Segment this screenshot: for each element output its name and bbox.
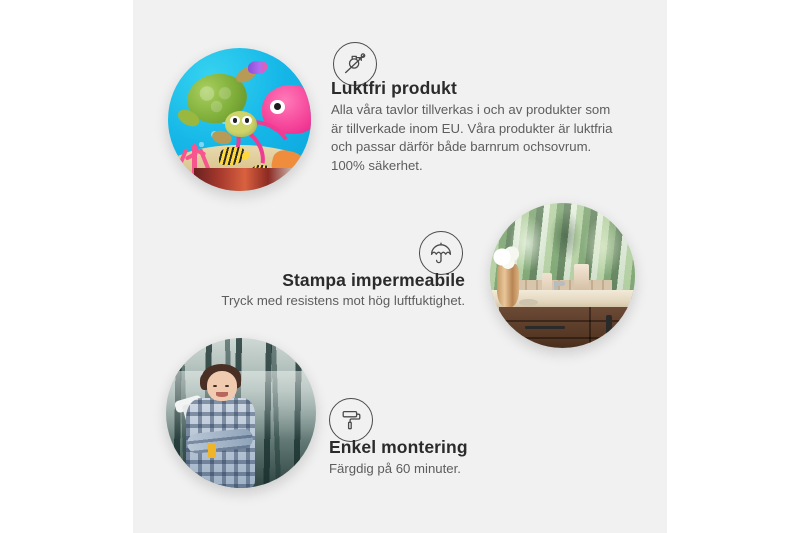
woman-paint-roller-circle-photo (166, 338, 316, 488)
woman-smile (216, 392, 228, 397)
turtle-eye (230, 116, 239, 126)
soap-dish-object (519, 299, 538, 306)
bathroom-interior-circle-photo (490, 203, 635, 348)
ocean-cartoon-circle-photo (168, 48, 311, 191)
yellow-fish-illustration (219, 147, 243, 166)
screenshot-root: Luktfri produkt Alla våra tavlor tillver… (0, 0, 800, 533)
bathroom-scene (490, 203, 635, 348)
door-handle (606, 315, 612, 340)
octopus-eye (270, 100, 285, 115)
cabinet-seam (499, 337, 635, 339)
cabinet-seam (589, 307, 591, 348)
paint-roller-icon (329, 398, 373, 442)
woman-eye (213, 385, 218, 387)
ocean-scene (168, 48, 311, 191)
drawer-handle (525, 326, 566, 328)
feature-title-waterproof: Stampa impermeabile (282, 270, 465, 291)
feature-panel: Luktfri produkt Alla våra tavlor tillver… (133, 0, 667, 533)
vase-object (497, 264, 519, 308)
feature-body-waterproof: Tryck med resistens mot hög luftfuktighe… (165, 292, 465, 311)
woman-face (207, 371, 237, 401)
feature-body-mounting: Färgdig på 60 minuter. (329, 460, 589, 479)
turtle-eye (242, 116, 251, 126)
feature-title-mounting: Enkel montering (329, 437, 468, 458)
forest-scene (166, 338, 316, 488)
wood-cabinet (499, 307, 635, 348)
cabinet-seam (499, 320, 635, 322)
feature-title-odor: Luktfri produkt (331, 78, 457, 99)
woman-eye (225, 385, 230, 387)
purple-fish-illustration (248, 61, 267, 74)
turtle-head (225, 111, 256, 137)
feature-body-odor: Alla våra tavlor tillverkas i och av pro… (331, 101, 623, 175)
yellow-tool-object (208, 443, 216, 458)
photo-bottom-strip (194, 168, 300, 191)
umbrella-icon (419, 231, 463, 275)
flowers-object (493, 244, 523, 270)
